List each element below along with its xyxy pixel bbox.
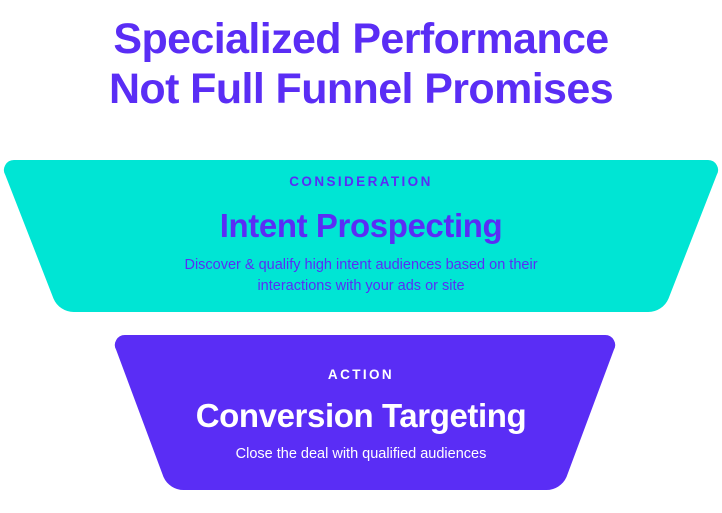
stage-description-consideration: Discover & qualify high intent audiences… — [0, 255, 722, 297]
stage-eyebrow-action: ACTION — [0, 367, 722, 383]
funnel-diagram: Specialized Performance Not Full Funnel … — [0, 0, 722, 513]
stage-description-consideration-line-1: Discover & qualify high intent audiences… — [0, 255, 722, 276]
stage-title-action: Conversion Targeting — [0, 396, 722, 436]
stage-eyebrow-consideration: CONSIDERATION — [0, 174, 722, 190]
stage-description-consideration-line-2: interactions with your ads or site — [0, 276, 722, 297]
stage-description-action: Close the deal with qualified audiences — [0, 444, 722, 465]
stage-title-consideration: Intent Prospecting — [0, 206, 722, 246]
stage-description-action-line-1: Close the deal with qualified audiences — [0, 444, 722, 465]
